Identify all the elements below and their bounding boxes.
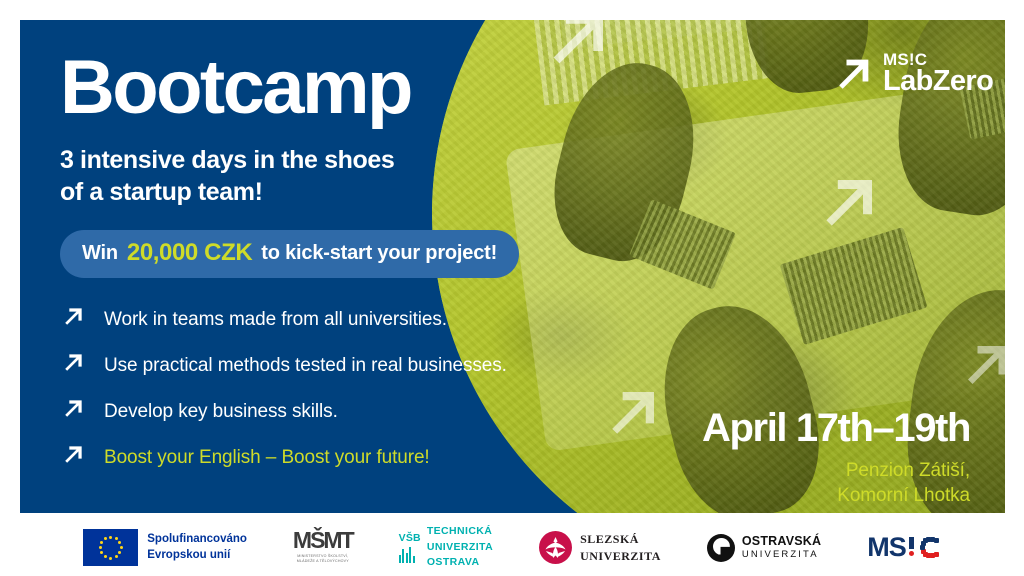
vsb-mark: VŠB [399, 532, 421, 563]
msic-c-icon [920, 537, 942, 559]
su-line-2: UNIVERZITA [580, 548, 661, 564]
event-date-block: April 17th–19th Penzion Zátiší, Komorní … [702, 408, 970, 508]
subheadline: 3 intensive days in the shoes of a start… [60, 144, 519, 208]
list-item: Boost your English – Boost your future! [60, 442, 519, 473]
event-venue: Penzion Zátiší, Komorní Lhotka [702, 459, 970, 508]
venue-line-1: Penzion Zátiší, [702, 459, 970, 484]
venue-line-2: Komorní Lhotka [702, 484, 970, 509]
labzero-program-name: LabZero [883, 67, 993, 96]
subheadline-line-2: of a startup team! [60, 176, 519, 208]
list-item-label: Use practical methods tested in real bus… [104, 355, 507, 377]
slezska-text: SLEZSKÁ UNIVERZITA [580, 531, 661, 563]
eu-text-line-1: Spolufinancováno [147, 532, 247, 548]
arrow-up-right-icon [60, 350, 86, 381]
labzero-logo: MS!C LabZero [830, 50, 993, 103]
msmt-logo: MŠMT MINISTERSTVO ŠKOLSTVÍ, MLÁDEŽE A TĚ… [293, 530, 353, 564]
vsb-bars-icon [399, 546, 415, 563]
vsb-line-3: OSTRAVA [427, 555, 493, 571]
list-item: Work in teams made from all universities… [60, 304, 519, 335]
prize-amount: 20,000 CZK [127, 239, 252, 267]
vsb-tuo-logo: VŠB TECHNICKÁ UNIVERZITA OSTRAVA [399, 524, 493, 571]
prize-badge: Win 20,000 CZK to kick-start your projec… [60, 230, 519, 278]
benefit-list: Work in teams made from all universities… [60, 304, 519, 473]
arrow-up-right-icon [830, 52, 876, 103]
list-item: Use practical methods tested in real bus… [60, 350, 519, 381]
msmt-caption-line-2: MLÁDEŽE A TĚLOVÝCHOVY [297, 559, 349, 564]
msmt-monogram: MŠMT [293, 530, 353, 551]
msic-exclamation-icon [907, 534, 917, 561]
poster: MS!C LabZero Bootcamp 3 intensive days i… [0, 0, 1024, 576]
vsb-line-1: TECHNICKÁ [427, 524, 493, 540]
ostravska-univerzita-logo: OSTRAVSKÁ UNIVERZITA [707, 534, 821, 562]
spiral-emblem-icon [707, 534, 735, 562]
arrow-up-right-icon [60, 396, 86, 427]
vsb-text: TECHNICKÁ UNIVERZITA OSTRAVA [427, 524, 493, 571]
vsb-abbr: VŠB [399, 532, 421, 544]
list-item-label: Work in teams made from all universities… [104, 309, 447, 331]
eagle-emblem-icon [539, 531, 572, 564]
eu-text-line-2: Evropskou unií [147, 548, 247, 564]
content-column: Bootcamp 3 intensive days in the shoes o… [60, 40, 519, 488]
msic-logo: MS [867, 532, 942, 563]
list-item: Develop key business skills. [60, 396, 519, 427]
vsb-line-2: UNIVERZITA [427, 540, 493, 556]
eu-cofunding-text: Spolufinancováno Evropskou unií [147, 532, 247, 563]
blue-background-panel: MS!C LabZero Bootcamp 3 intensive days i… [20, 20, 1005, 513]
sponsor-logo-strip: Spolufinancováno Evropskou unií MŠMT MIN… [20, 519, 1005, 576]
ostravska-text: OSTRAVSKÁ UNIVERZITA [742, 535, 821, 560]
ou-line-1: OSTRAVSKÁ [742, 535, 821, 549]
list-item-label: Develop key business skills. [104, 401, 338, 423]
su-line-1: SLEZSKÁ [580, 531, 661, 547]
eu-cofunding-logo: Spolufinancováno Evropskou unií [83, 529, 247, 566]
ou-line-2: UNIVERZITA [742, 549, 821, 560]
prize-suffix: to kick-start your project! [261, 242, 497, 265]
list-item-label: Boost your English – Boost your future! [104, 447, 430, 469]
page-title: Bootcamp [60, 52, 519, 124]
arrow-up-right-icon [60, 304, 86, 335]
decorative-arrow-icon [538, 20, 616, 79]
prize-prefix: Win [82, 242, 118, 265]
decorative-arrow-icon [599, 381, 665, 447]
subheadline-line-1: 3 intensive days in the shoes [60, 144, 519, 176]
slezska-univerzita-logo: SLEZSKÁ UNIVERZITA [539, 531, 661, 564]
decorative-arrow-icon [956, 336, 1005, 396]
eu-flag-icon [83, 529, 138, 566]
event-dates: April 17th–19th [702, 408, 970, 448]
decorative-arrow-icon [812, 168, 884, 240]
msmt-caption: MINISTERSTVO ŠKOLSTVÍ, MLÁDEŽE A TĚLOVÝC… [297, 554, 349, 565]
arrow-up-right-icon [60, 442, 86, 473]
msic-ms-text: MS [867, 532, 906, 563]
